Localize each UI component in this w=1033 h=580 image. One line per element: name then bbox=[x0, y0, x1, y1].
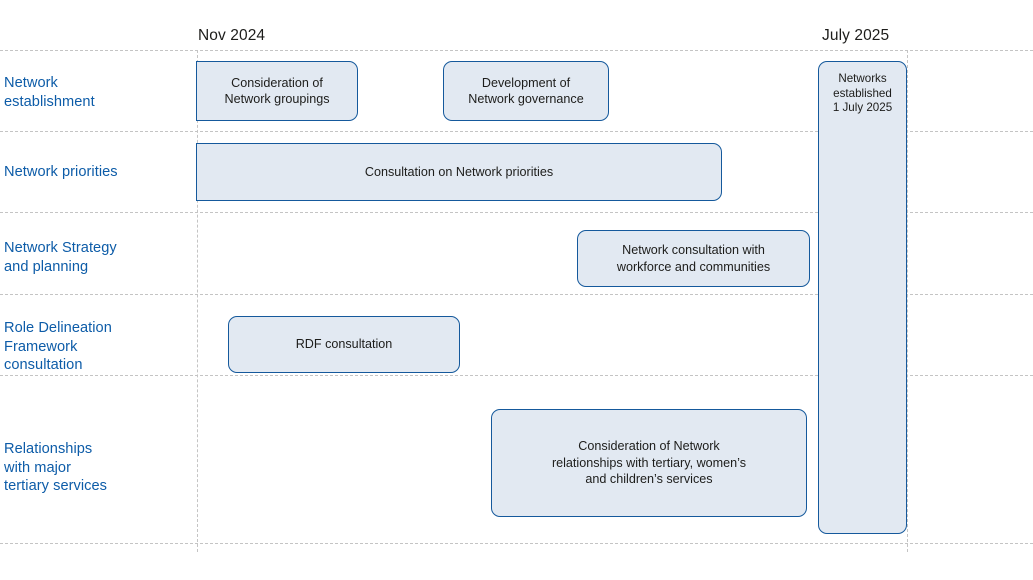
activity-bar-consideration-of-network-groupings[interactable]: Consideration of Network groupings bbox=[196, 61, 358, 121]
activity-bar-consultation-on-network-priorities[interactable]: Consultation on Network priorities bbox=[196, 143, 722, 201]
row-label-line: Network priorities bbox=[4, 163, 190, 182]
bar-text-line: RDF consultation bbox=[296, 336, 393, 353]
row-label-line: Relationships bbox=[4, 440, 190, 459]
row-label-relationships-with-major-tertiary-services: Relationships with major tertiary servic… bbox=[4, 440, 190, 496]
row-label-line: establishment bbox=[4, 93, 190, 112]
row-label-line: with major bbox=[4, 459, 190, 478]
bar-text-line: relationships with tertiary, women’s bbox=[552, 455, 746, 472]
row-label-role-delineation-framework-consultation: Role Delineation Framework consultation bbox=[4, 319, 190, 375]
grid-row-separator-5 bbox=[0, 543, 1033, 544]
grid-period-divider-0 bbox=[197, 50, 198, 552]
bar-text-line: Network governance bbox=[468, 91, 584, 108]
activity-bar-consideration-of-network-relationships[interactable]: Consideration of Network relationships w… bbox=[491, 409, 807, 517]
row-label-network-priorities: Network priorities bbox=[4, 163, 190, 182]
row-label-line: Role Delineation bbox=[4, 319, 190, 338]
bar-text-line: and children’s services bbox=[552, 471, 746, 488]
period-header-nov-2024: Nov 2024 bbox=[198, 27, 265, 45]
row-label-line: consultation bbox=[4, 356, 190, 375]
bar-text-line: Network consultation with bbox=[617, 242, 770, 259]
milestone-text-line: Networks bbox=[819, 72, 906, 87]
row-label-line: Network bbox=[4, 74, 190, 93]
bar-text-line: Consultation on Network priorities bbox=[365, 164, 553, 181]
milestone-text-line: established bbox=[819, 87, 906, 102]
activity-bar-development-of-network-governance[interactable]: Development of Network governance bbox=[443, 61, 609, 121]
period-header-july-2025: July 2025 bbox=[822, 27, 889, 45]
bar-text-line: Development of bbox=[468, 75, 584, 92]
bar-text-line: workforce and communities bbox=[617, 259, 770, 276]
timeline-diagram: Nov 2024 July 2025 Network establishment… bbox=[0, 0, 1033, 580]
activity-bar-rdf-consultation[interactable]: RDF consultation bbox=[228, 316, 460, 373]
row-label-network-establishment: Network establishment bbox=[4, 74, 190, 111]
row-label-line: Network Strategy bbox=[4, 239, 190, 258]
bar-text-line: Network groupings bbox=[225, 91, 330, 108]
grid-period-divider-1 bbox=[907, 50, 908, 552]
row-label-line: and planning bbox=[4, 258, 190, 277]
milestone-networks-established[interactable]: Networks established 1 July 2025 bbox=[818, 61, 907, 534]
row-label-line: Framework bbox=[4, 338, 190, 357]
milestone-text-line: 1 July 2025 bbox=[819, 101, 906, 116]
row-label-network-strategy-and-planning: Network Strategy and planning bbox=[4, 239, 190, 276]
grid-row-separator-0 bbox=[0, 50, 1033, 51]
row-label-line: tertiary services bbox=[4, 477, 190, 496]
activity-bar-network-consultation-with-workforce-and-communities[interactable]: Network consultation with workforce and … bbox=[577, 230, 810, 287]
bar-text-line: Consideration of Network bbox=[552, 438, 746, 455]
bar-text-line: Consideration of bbox=[225, 75, 330, 92]
